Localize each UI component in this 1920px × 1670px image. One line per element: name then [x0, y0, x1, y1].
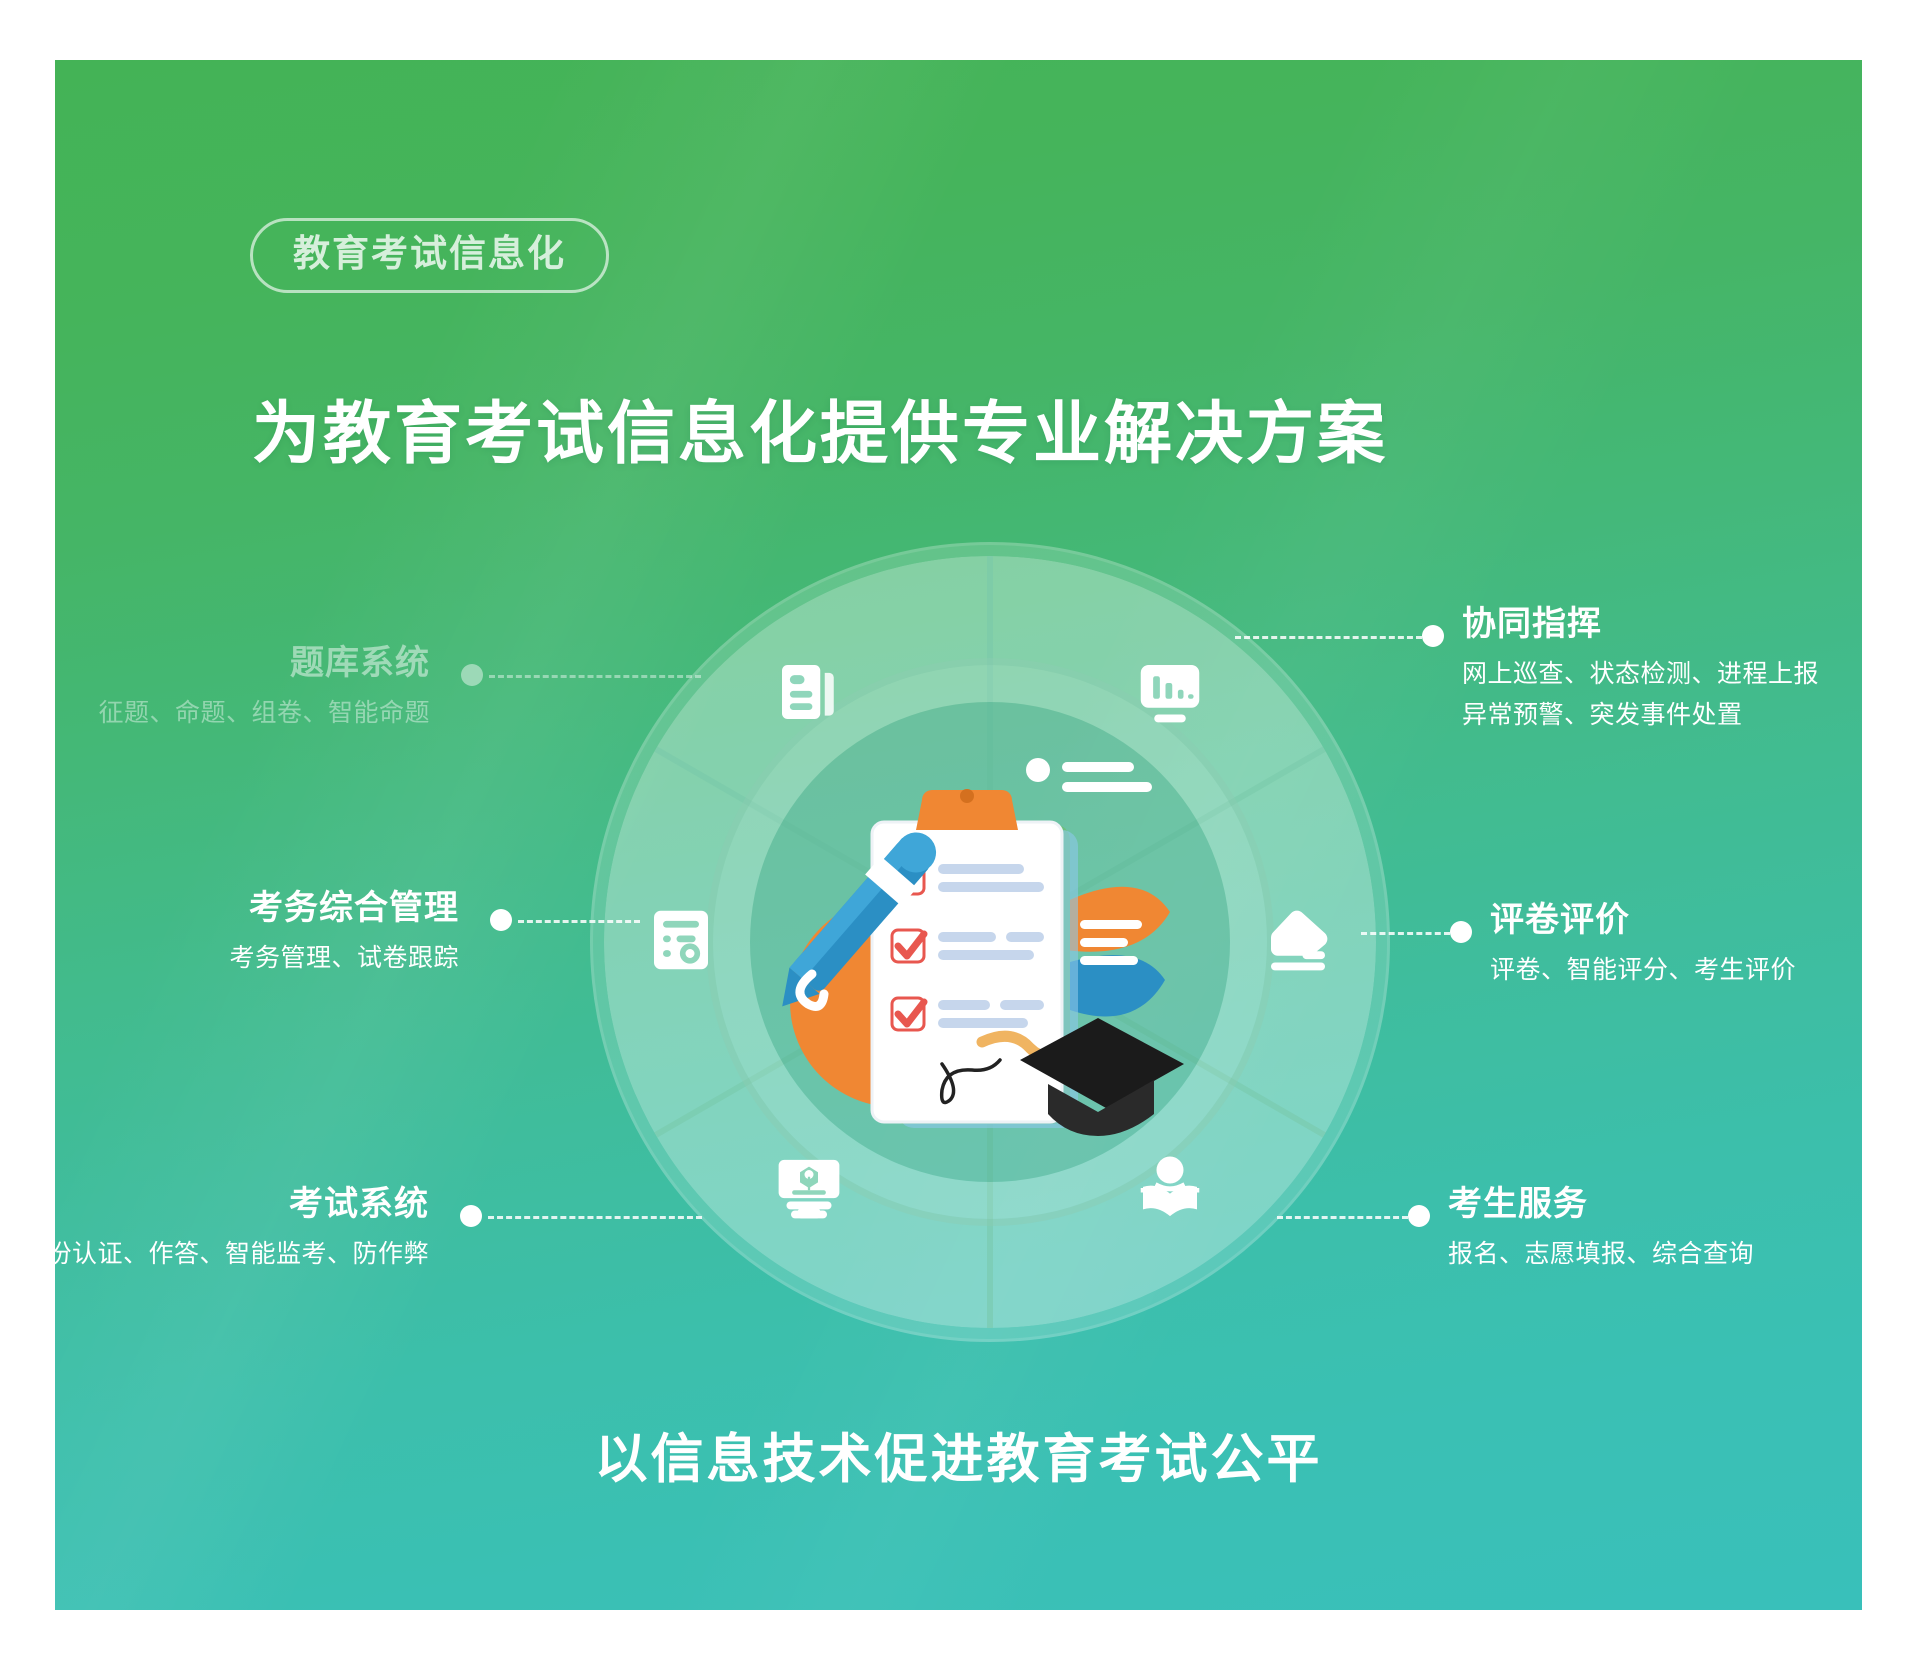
document-gear-icon[interactable]	[635, 894, 727, 986]
promo-banner: 教育考试信息化 为教育考试信息化提供专业解决方案	[55, 60, 1862, 1610]
label-desc-line: 征题、命题、组卷、智能命题	[98, 694, 430, 733]
connector-dot-grading-evaluation	[1450, 921, 1472, 943]
label-title: 考务综合管理	[229, 890, 459, 927]
label-desc-line: 报名、志愿填报、综合查询	[1448, 1235, 1754, 1274]
connector-dot-exam-affairs	[490, 909, 512, 931]
central-illustration	[720, 712, 1260, 1172]
connector-dot-question-bank	[461, 664, 483, 686]
connector-line-collaborative-command	[1235, 636, 1422, 639]
label-candidate-service[interactable]: 考生服务 报名、志愿填报、综合查询	[1448, 1186, 1754, 1274]
connector-line-exam-affairs	[518, 920, 640, 923]
label-desc-line: 身份认证、作答、智能监考、防作弊	[55, 1235, 429, 1274]
label-title: 题库系统	[98, 645, 430, 682]
label-desc-line: 网上巡查、状态检测、进程上报	[1462, 655, 1819, 694]
connector-line-grading-evaluation	[1361, 932, 1450, 935]
solution-wheel	[590, 542, 1390, 1342]
page-title: 为教育考试信息化提供专业解决方案	[252, 378, 1388, 477]
connector-line-candidate-service	[1277, 1216, 1408, 1219]
label-desc-line: 评卷、智能评分、考生评价	[1490, 951, 1796, 990]
label-grading-evaluation[interactable]: 评卷评价 评卷、智能评分、考生评价	[1490, 902, 1796, 990]
label-question-bank[interactable]: 题库系统 征题、命题、组卷、智能命题	[98, 645, 430, 733]
connector-dot-exam-system	[460, 1205, 482, 1227]
label-title: 考试系统	[55, 1186, 429, 1223]
label-title: 评卷评价	[1490, 902, 1796, 939]
connector-dot-candidate-service	[1408, 1205, 1430, 1227]
label-desc-line: 异常预警、突发事件处置	[1462, 696, 1819, 735]
label-collaborative-command[interactable]: 协同指挥 网上巡查、状态检测、进程上报 异常预警、突发事件处置	[1462, 606, 1819, 735]
eraser-icon[interactable]	[1252, 894, 1344, 986]
label-exam-affairs[interactable]: 考务综合管理 考务管理、试卷跟踪	[229, 890, 459, 978]
label-title: 协同指挥	[1462, 606, 1819, 643]
category-badge: 教育考试信息化	[250, 218, 609, 293]
footer-tagline: 以信息技术促进教育考试公平	[55, 1417, 1862, 1493]
label-title: 考生服务	[1448, 1186, 1754, 1223]
label-exam-system[interactable]: 考试系统 身份认证、作答、智能监考、防作弊	[55, 1186, 429, 1274]
connector-line-exam-system	[488, 1216, 702, 1219]
connector-dot-collaborative-command	[1422, 625, 1444, 647]
label-desc-line: 考务管理、试卷跟踪	[229, 939, 459, 978]
connector-line-question-bank	[489, 675, 701, 678]
